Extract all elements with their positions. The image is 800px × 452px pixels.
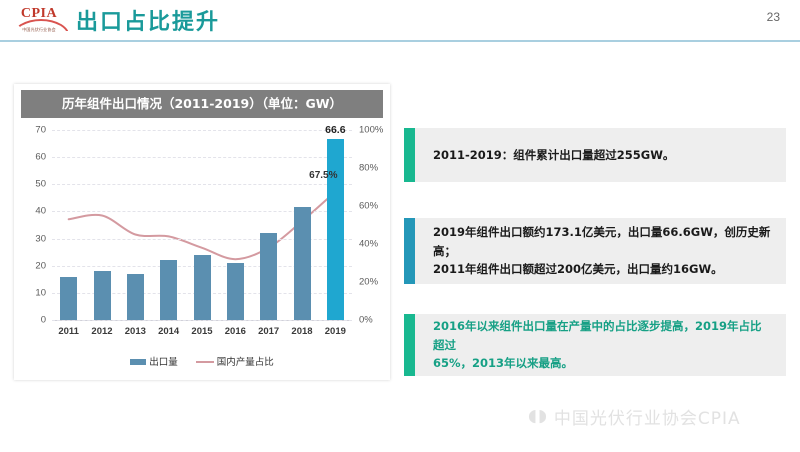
y2-axis-tick-label: 20%: [359, 277, 378, 288]
chart-title-bar: 历年组件出口情况（2011-2019）（单位：GW）: [21, 90, 383, 118]
x-axis-tick-2011: 2011: [58, 326, 79, 337]
y-axis-tick-label: 40: [35, 206, 46, 217]
chart-panel: 历年组件出口情况（2011-2019）（单位：GW） 0102030405060…: [14, 84, 390, 380]
x-axis-tick-2017: 2017: [258, 326, 279, 337]
callout-text-1: 2011-2019：组件累计出口量超过255GW。: [415, 146, 688, 165]
callout-text-3: 2016年以来组件出口量在产量中的占比逐步提高，2019年占比超过65%，201…: [415, 317, 786, 374]
gridline: [52, 320, 352, 321]
logo-subtext: 中国光伏行业协会: [8, 27, 70, 33]
y2-axis-tick-label: 100%: [359, 125, 383, 136]
callout-box-1: 2011-2019：组件累计出口量超过255GW。: [404, 128, 786, 182]
page-title: 出口占比提升: [76, 4, 220, 36]
y2-axis-tick-label: 60%: [359, 201, 378, 212]
plot-canvas: 0102030405060700%20%40%60%80%100%2011201…: [52, 130, 352, 320]
y-axis-tick-label: 10: [35, 287, 46, 298]
x-axis-tick-2018: 2018: [291, 326, 312, 337]
callout-accent-2: [404, 218, 415, 284]
page-header: CPIA 中国光伏行业协会 出口占比提升 23: [0, 0, 800, 42]
page-number: 23: [767, 10, 780, 24]
x-axis-tick-2016: 2016: [225, 326, 246, 337]
legend-item-line: 国内产量占比: [196, 354, 274, 368]
bar-2011: [60, 277, 77, 320]
bar-2014: [160, 260, 177, 320]
callout-line: 2019年组件出口额约173.1亿美元，出口量66.6GW，创历史新高；: [433, 223, 772, 261]
callout-line: 2016年以来组件出口量在产量中的占比逐步提高，2019年占比超过: [433, 317, 772, 355]
callout-line: 2011-2019：组件累计出口量超过255GW。: [433, 146, 674, 165]
callout-box-3: 2016年以来组件出口量在产量中的占比逐步提高，2019年占比超过65%，201…: [404, 314, 786, 376]
cpia-logo: CPIA 中国光伏行业协会: [8, 2, 70, 38]
bar-2012: [94, 271, 111, 320]
chart-legend: 出口量国内产量占比: [14, 354, 390, 368]
x-axis-tick-2015: 2015: [191, 326, 212, 337]
bar-2015: [194, 255, 211, 320]
bar-2019: [327, 139, 344, 320]
gridline: [52, 184, 352, 185]
callout-line: 65%，2013年以来最高。: [433, 354, 772, 373]
y2-axis-tick-label: 0%: [359, 315, 373, 326]
y-axis-tick-label: 70: [35, 125, 46, 136]
watermark-text: 中国光伏行业协会CPIA: [554, 404, 741, 429]
legend-label: 国内产量占比: [217, 357, 274, 368]
bar-2017: [260, 233, 277, 320]
gridline: [52, 130, 352, 131]
x-axis-tick-2019: 2019: [325, 326, 346, 337]
y-axis-tick-label: 30: [35, 233, 46, 244]
y2-axis-tick-label: 80%: [359, 163, 378, 174]
y2-axis-tick-label: 40%: [359, 239, 378, 250]
wechat-icon: ◖◗: [528, 408, 548, 425]
callout-line: 2011年组件出口额超过200亿美元，出口量约16GW。: [433, 260, 772, 279]
y-axis-tick-label: 0: [41, 315, 46, 326]
header-divider: [0, 40, 800, 42]
x-axis-tick-2014: 2014: [158, 326, 179, 337]
legend-label: 出口量: [149, 357, 178, 368]
callout-accent-1: [404, 128, 415, 182]
bar-data-label-2019: 66.6: [325, 124, 345, 136]
y-axis-tick-label: 60: [35, 152, 46, 163]
callout-text-2: 2019年组件出口额约173.1亿美元，出口量66.6GW，创历史新高；2011…: [415, 223, 786, 280]
chart-title: 历年组件出口情况（2011-2019）（单位：GW）: [21, 90, 383, 118]
y-axis-tick-label: 20: [35, 260, 46, 271]
legend-swatch-line: [196, 361, 214, 363]
legend-item-bar: 出口量: [130, 354, 178, 368]
y-axis-tick-label: 50: [35, 179, 46, 190]
line-data-label-2019: 67.5%: [309, 170, 337, 181]
legend-swatch-bar: [130, 359, 146, 365]
bar-2018: [294, 207, 311, 320]
x-axis-tick-2013: 2013: [125, 326, 146, 337]
callout-box-2: 2019年组件出口额约173.1亿美元，出口量66.6GW，创历史新高；2011…: [404, 218, 786, 284]
bar-2016: [227, 263, 244, 320]
watermark: ◖◗ 中国光伏行业协会CPIA: [528, 404, 741, 429]
callout-accent-3: [404, 314, 415, 376]
gridline: [52, 157, 352, 158]
chart-plot-area: 0102030405060700%20%40%60%80%100%2011201…: [14, 122, 390, 380]
bar-2013: [127, 274, 144, 320]
x-axis-tick-2012: 2012: [91, 326, 112, 337]
